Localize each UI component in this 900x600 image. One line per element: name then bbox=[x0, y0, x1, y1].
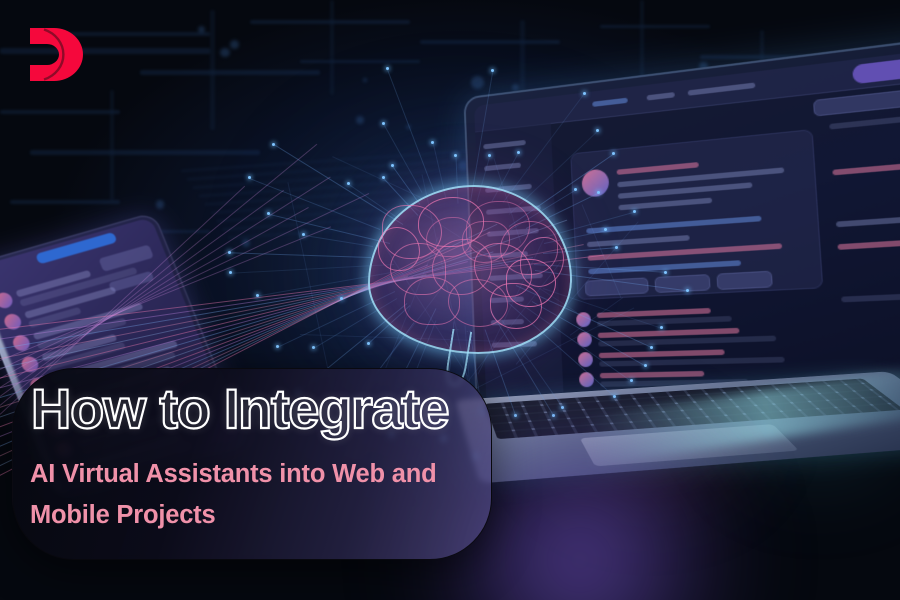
ai-brain-graphic bbox=[368, 185, 572, 354]
double-d-logo[interactable] bbox=[30, 28, 88, 81]
banner-image: How to Integrate AI Virtual Assistants i… bbox=[0, 0, 900, 600]
subtitle-line-2: Mobile Projects bbox=[30, 503, 480, 529]
subtitle-line-1: AI Virtual Assistants into Web and bbox=[30, 462, 480, 488]
page-title: How to Integrate bbox=[31, 381, 448, 437]
